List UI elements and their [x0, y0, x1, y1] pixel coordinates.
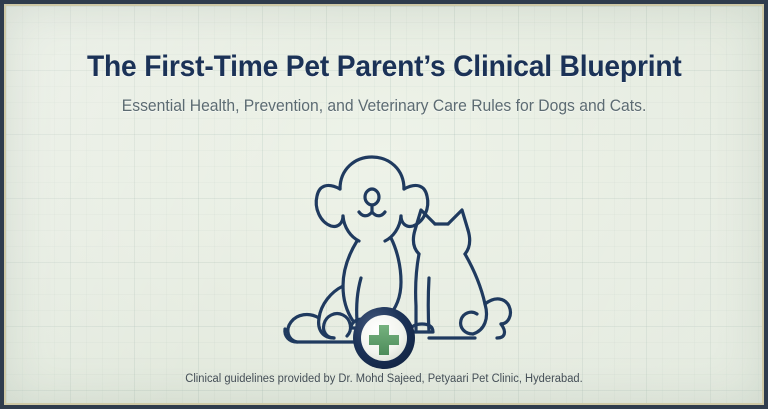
footer-credit: Clinical guidelines provided by Dr. Mohd…: [17, 373, 750, 385]
slide-frame: The First-Time Pet Parent’s Clinical Blu…: [0, 0, 768, 409]
green-medical-cross-badge-icon: [352, 306, 416, 370]
page-title: The First-Time Pet Parent’s Clinical Blu…: [87, 6, 682, 84]
slide-canvas: The First-Time Pet Parent’s Clinical Blu…: [4, 4, 764, 405]
slide-content: The First-Time Pet Parent’s Clinical Blu…: [6, 6, 762, 403]
page-subtitle: Essential Health, Prevention, and Veteri…: [122, 84, 647, 116]
